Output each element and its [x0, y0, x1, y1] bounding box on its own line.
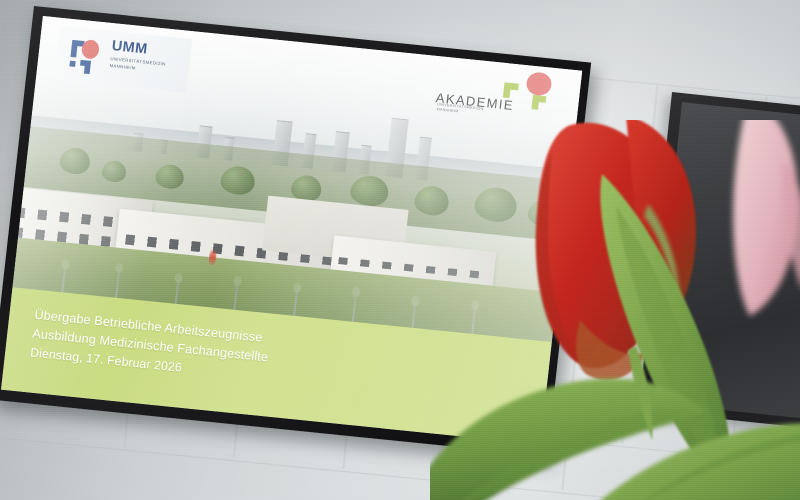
secondary-monitor-screen — [650, 102, 800, 420]
photo-scene: UMM UNIVERSITÄTSMEDIZIN MANNHEIM AKADEMI… — [0, 0, 800, 500]
umm-wordmark: UMM UNIVERSITÄTSMEDIZIN MANNHEIM — [109, 39, 168, 74]
umm-mark-icon — [66, 36, 108, 80]
slide-content: UMM UNIVERSITÄTSMEDIZIN MANNHEIM AKADEMI… — [1, 16, 582, 444]
presentation-screen[interactable]: UMM UNIVERSITÄTSMEDIZIN MANNHEIM AKADEMI… — [0, 6, 591, 456]
